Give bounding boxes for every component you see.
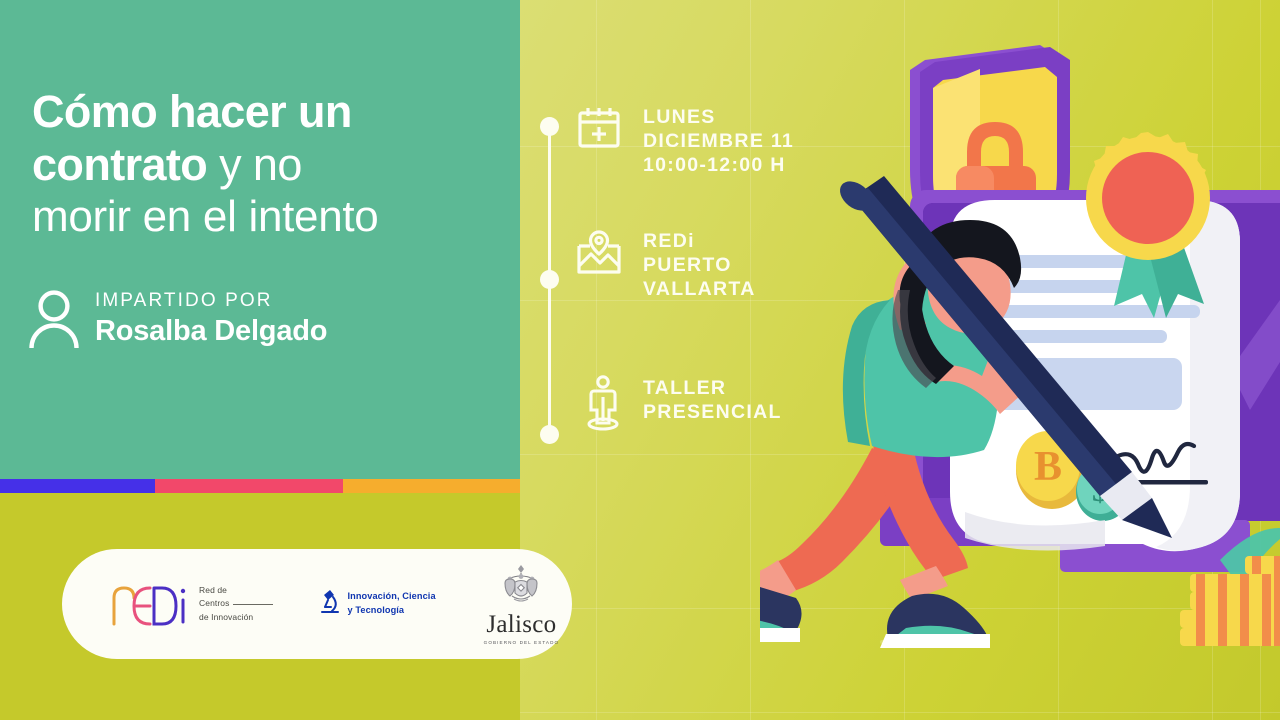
detail-text-location: REDi PUERTO VALLARTA (643, 228, 756, 302)
stripe-segment-orange (343, 479, 520, 493)
map-pin-icon (575, 228, 623, 283)
detail-item-location: REDi PUERTO VALLARTA (575, 228, 756, 302)
redi-logo: Red de Centros de Innovación (106, 574, 273, 635)
stripe-segment-blue (0, 479, 155, 493)
svg-text:B: B (1034, 444, 1062, 490)
ict-text: Innovación, Ciencia y Tecnología (347, 590, 435, 618)
redi-wordmark-icon (106, 574, 190, 635)
timeline-dot (540, 270, 559, 289)
title-line-1: Cómo hacer un (32, 86, 502, 139)
timeline-dot (540, 425, 559, 444)
redi-tagline: Red de Centros de Innovación (199, 584, 273, 624)
page-title: Cómo hacer un contrato y no morir en el … (32, 86, 502, 243)
detail-item-modality: TALLER PRESENCIAL (575, 375, 782, 436)
jalisco-coat-of-arms-icon (494, 563, 548, 610)
event-poster: B $ (0, 0, 1280, 720)
sponsor-logo-card: Red de Centros de Innovación Innovación,… (62, 549, 572, 659)
imparted-by-label: IMPARTIDO POR (95, 289, 327, 313)
speaker-name: Rosalba Delgado (95, 314, 327, 349)
detail-text-date: LUNES DICIEMBRE 11 10:00-12:00 H (643, 104, 794, 178)
detail-item-date: LUNES DICIEMBRE 11 10:00-12:00 H (575, 104, 794, 178)
calendar-plus-icon (575, 104, 623, 157)
detail-text-modality: TALLER PRESENCIAL (643, 375, 782, 425)
title-line-3: morir en el intento (32, 191, 502, 242)
contract-signing-illustration: B $ (760, 0, 1280, 720)
microscope-icon (319, 587, 341, 622)
stripe-segment-pink (155, 479, 343, 493)
jalisco-logo: Jalisco GOBIERNO DEL ESTADO (484, 563, 560, 645)
jalisco-wordmark: Jalisco (486, 612, 556, 637)
title-panel: Cómo hacer un contrato y no morir en el … (0, 0, 520, 479)
person-avatar-icon (28, 288, 80, 350)
innovacion-ciencia-tecnologia-logo: Innovación, Ciencia y Tecnología (319, 587, 435, 622)
speaker-block: IMPARTIDO POR Rosalba Delgado (28, 288, 327, 350)
standing-person-icon (583, 375, 623, 436)
jalisco-subtitle: GOBIERNO DEL ESTADO (484, 640, 560, 645)
timeline-dot (540, 117, 559, 136)
speaker-text: IMPARTIDO POR Rosalba Delgado (95, 289, 327, 350)
title-line-2: contrato y no (32, 139, 502, 192)
